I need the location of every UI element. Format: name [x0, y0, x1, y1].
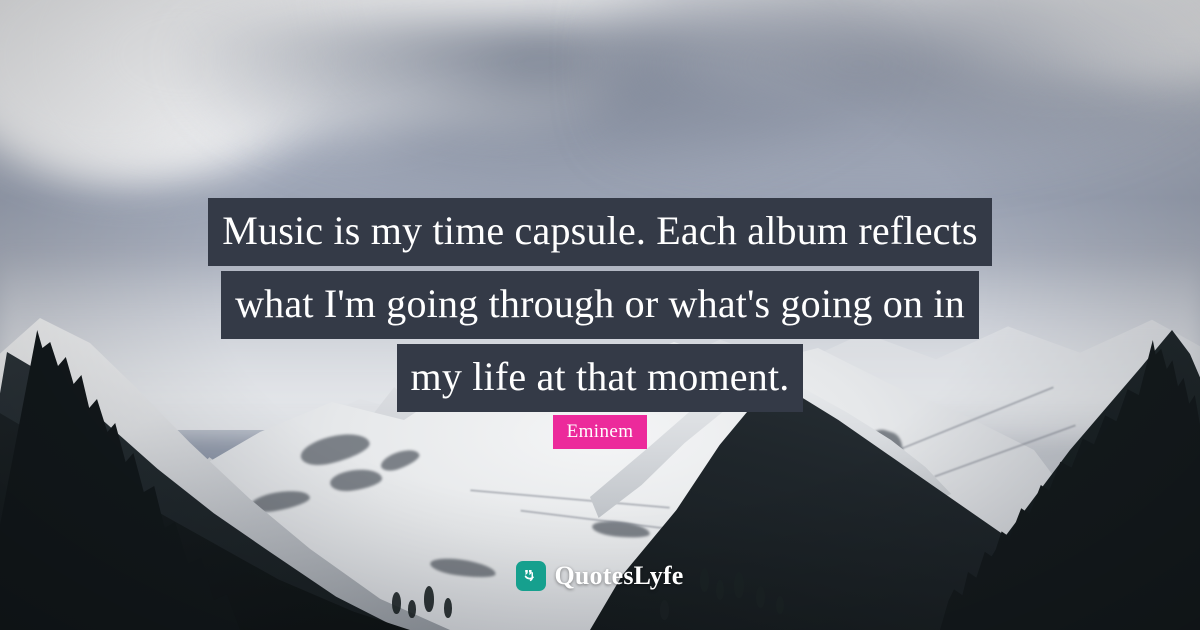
quote-card: Music is my time capsule. Each album ref… [0, 0, 1200, 630]
author-name-badge[interactable]: Eminem [553, 415, 648, 449]
quote-line-3: my life at that moment. [397, 344, 804, 412]
quote-text-block: Music is my time capsule. Each album ref… [0, 198, 1200, 417]
quote-bubble-icon [516, 561, 546, 591]
quote-line-2: what I'm going through or what's going o… [221, 271, 979, 339]
brand-watermark[interactable]: QuotesLyfe [0, 561, 1200, 591]
brand-name-label: QuotesLyfe [554, 563, 683, 589]
author-attribution: Eminem [0, 415, 1200, 449]
quote-line-1: Music is my time capsule. Each album ref… [208, 198, 991, 266]
